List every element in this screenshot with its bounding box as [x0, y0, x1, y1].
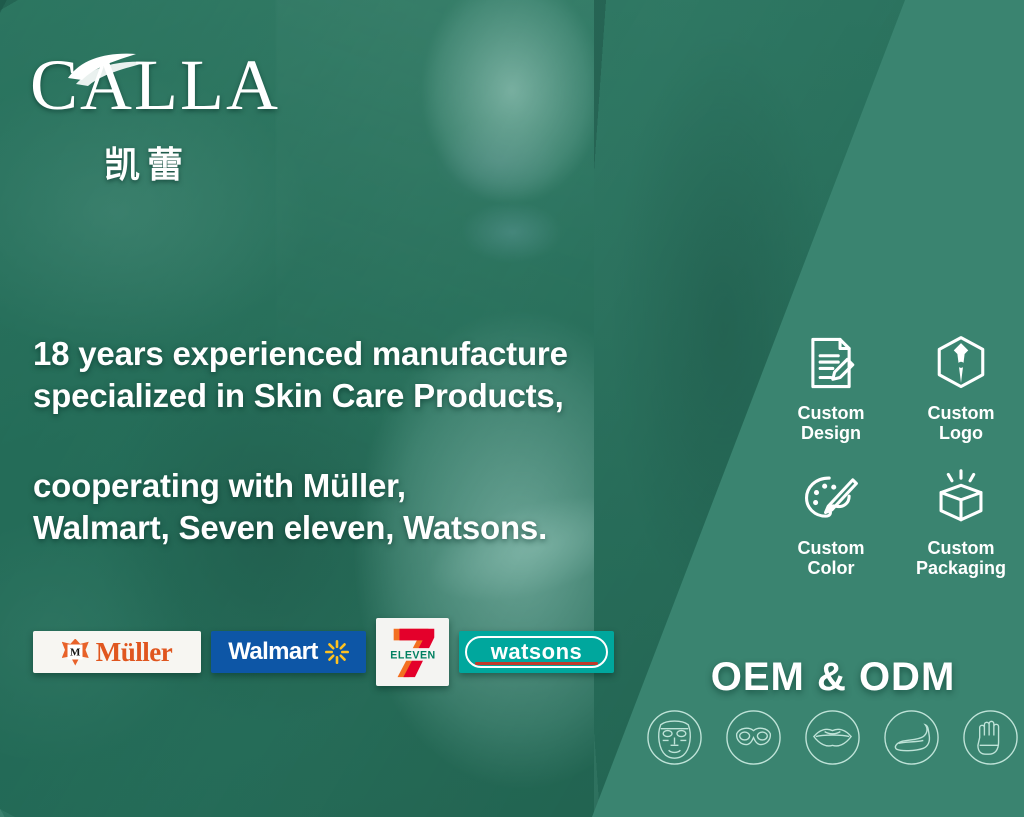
feature-label-custom-packaging: CustomPackaging [898, 538, 1024, 578]
hand-mask-glove-icon [961, 708, 1020, 767]
muller-wordmark: Müller [96, 637, 172, 668]
calla-lily-swoosh-icon [62, 48, 182, 88]
partner-logo-walmart: Walmart [211, 631, 366, 673]
partner-logos: M Müller Walmart [33, 618, 614, 686]
document-pencil-icon [768, 330, 894, 396]
brand-logo: CALLA 凯蕾 [30, 46, 300, 188]
headline-line-4: Walmart, Seven eleven, Watsons. [33, 507, 693, 549]
feature-custom-color: CustomColor [768, 465, 894, 578]
promo-banner: CALLA 凯蕾 18 years experienced manufactur… [0, 0, 1024, 817]
feature-custom-design: CustomDesign [768, 330, 894, 443]
watsons-underline [475, 662, 598, 665]
feature-label-custom-color: CustomColor [768, 538, 894, 578]
lip-mask-icon [803, 708, 862, 767]
partner-logo-muller: M Müller [33, 631, 201, 673]
headline: 18 years experienced manufacture special… [33, 333, 693, 548]
eye-mask-icon [724, 708, 783, 767]
headline-line-1: 18 years experienced manufacture [33, 333, 693, 375]
brand-wordmark-cn: 凯蕾 [30, 136, 300, 188]
pen-nib-hexagon-icon [898, 330, 1024, 396]
custom-features: CustomDesign CustomLogo [768, 330, 1024, 579]
feature-label-custom-logo: CustomLogo [898, 403, 1024, 443]
feature-custom-logo: CustomLogo [898, 330, 1024, 443]
muller-mark-letter: M [68, 645, 83, 660]
face-mask-icon [645, 708, 704, 767]
partner-logo-seven-eleven: ELEVEN [376, 618, 449, 686]
headline-line-3: cooperating with Müller, [33, 465, 693, 507]
seven-eleven-icon: ELEVEN [384, 623, 442, 681]
muller-clover-icon: M [62, 639, 89, 666]
headline-block-2: cooperating with Müller, Walmart, Seven … [33, 465, 693, 548]
oem-product-icons [645, 708, 1020, 767]
partner-logo-watsons: watsons [459, 631, 614, 673]
logo-mark: CALLA [30, 46, 300, 130]
walmart-wordmark: Walmart [228, 638, 318, 666]
svg-text:ELEVEN: ELEVEN [390, 649, 435, 661]
open-box-icon [898, 465, 1024, 531]
paint-palette-icon [768, 465, 894, 531]
feature-label-custom-design: CustomDesign [768, 403, 894, 443]
oem-odm-title: OEM & ODM [663, 655, 1003, 700]
walmart-spark-icon [325, 640, 349, 664]
headline-block-1: 18 years experienced manufacture special… [33, 333, 693, 416]
headline-line-2: specialized in Skin Care Products, [33, 375, 693, 417]
foot-mask-icon [882, 708, 941, 767]
feature-custom-packaging: CustomPackaging [898, 465, 1024, 578]
